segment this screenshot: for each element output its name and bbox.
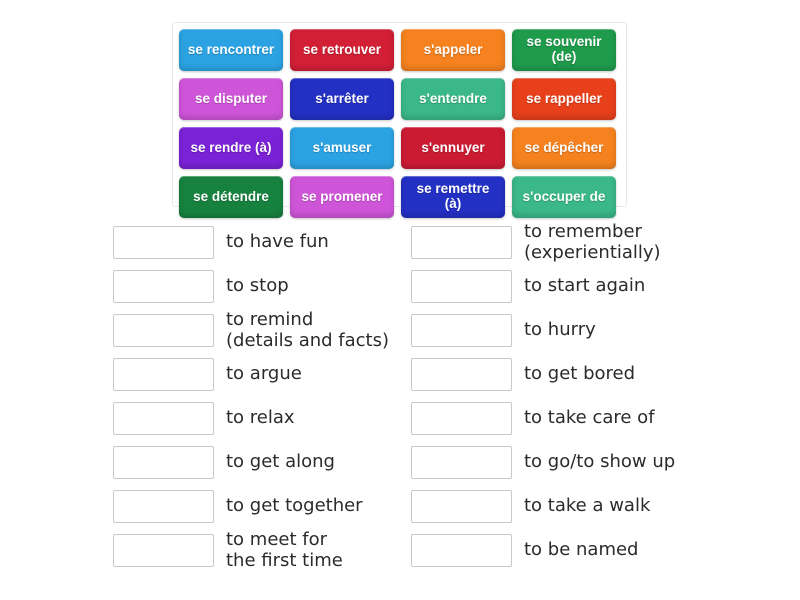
answer-label: to have fun <box>226 231 329 252</box>
answer-row: to meet for the first time <box>113 528 389 572</box>
answer-label: to be named <box>524 539 639 560</box>
answer-row: to get along <box>113 440 389 484</box>
answer-row: to get bored <box>411 352 675 396</box>
verb-tile[interactable]: s'arrêter <box>290 78 394 120</box>
answer-row: to take a walk <box>411 484 675 528</box>
answer-drop-slot[interactable] <box>411 402 512 435</box>
answer-label: to stop <box>226 275 289 296</box>
answer-label: to start again <box>524 275 645 296</box>
answer-drop-slot[interactable] <box>411 534 512 567</box>
answer-label: to remember (experientially) <box>524 221 661 263</box>
answer-drop-slot[interactable] <box>113 270 214 303</box>
answer-row: to take care of <box>411 396 675 440</box>
verb-tile[interactable]: se souvenir (de) <box>512 29 616 71</box>
answer-drop-slot[interactable] <box>411 358 512 391</box>
tile-bank: se rencontrerse retrouvers'appelerse sou… <box>172 22 627 207</box>
answer-label: to take a walk <box>524 495 650 516</box>
answer-row: to argue <box>113 352 389 396</box>
verb-tile[interactable]: s'ennuyer <box>401 127 505 169</box>
answer-row: to remind (details and facts) <box>113 308 389 352</box>
answer-drop-slot[interactable] <box>113 358 214 391</box>
verb-tile[interactable]: se promener <box>290 176 394 218</box>
answer-row: to relax <box>113 396 389 440</box>
verb-tile[interactable]: s'appeler <box>401 29 505 71</box>
answer-row: to hurry <box>411 308 675 352</box>
answer-label: to get bored <box>524 363 635 384</box>
answer-label: to take care of <box>524 407 655 428</box>
verb-tile[interactable]: se disputer <box>179 78 283 120</box>
answer-drop-slot[interactable] <box>411 314 512 347</box>
answer-label: to remind (details and facts) <box>226 309 389 351</box>
answer-label: to relax <box>226 407 295 428</box>
answer-drop-slot[interactable] <box>411 446 512 479</box>
answer-drop-slot[interactable] <box>113 534 214 567</box>
verb-tile[interactable]: se remettre (à) <box>401 176 505 218</box>
answer-drop-slot[interactable] <box>411 490 512 523</box>
answer-drop-slot[interactable] <box>411 226 512 259</box>
answer-drop-slot[interactable] <box>113 490 214 523</box>
answer-drop-slot[interactable] <box>411 270 512 303</box>
verb-tile[interactable]: s'occuper de <box>512 176 616 218</box>
verb-tile[interactable]: se détendre <box>179 176 283 218</box>
answer-row: to start again <box>411 264 675 308</box>
verb-tile[interactable]: s'amuser <box>290 127 394 169</box>
tile-grid: se rencontrerse retrouvers'appelerse sou… <box>179 29 620 218</box>
verb-tile[interactable]: s'entendre <box>401 78 505 120</box>
answers-left-column: to have funto stopto remind (details and… <box>113 220 389 572</box>
verb-tile[interactable]: se rappeller <box>512 78 616 120</box>
verb-tile[interactable]: se rencontrer <box>179 29 283 71</box>
answer-label: to get together <box>226 495 363 516</box>
answer-row: to stop <box>113 264 389 308</box>
answer-drop-slot[interactable] <box>113 314 214 347</box>
answers-right-column: to remember (experientially)to start aga… <box>411 220 675 572</box>
verb-tile[interactable]: se dépêcher <box>512 127 616 169</box>
answer-label: to argue <box>226 363 302 384</box>
answer-label: to get along <box>226 451 335 472</box>
answer-row: to get together <box>113 484 389 528</box>
answer-drop-slot[interactable] <box>113 226 214 259</box>
answer-label: to go/to show up <box>524 451 675 472</box>
answer-label: to meet for the first time <box>226 529 343 571</box>
answer-row: to go/to show up <box>411 440 675 484</box>
answer-row: to have fun <box>113 220 389 264</box>
answer-label: to hurry <box>524 319 596 340</box>
answer-drop-slot[interactable] <box>113 446 214 479</box>
answer-drop-slot[interactable] <box>113 402 214 435</box>
verb-tile[interactable]: se retrouver <box>290 29 394 71</box>
answer-row: to remember (experientially) <box>411 220 675 264</box>
answer-row: to be named <box>411 528 675 572</box>
verb-tile[interactable]: se rendre (à) <box>179 127 283 169</box>
